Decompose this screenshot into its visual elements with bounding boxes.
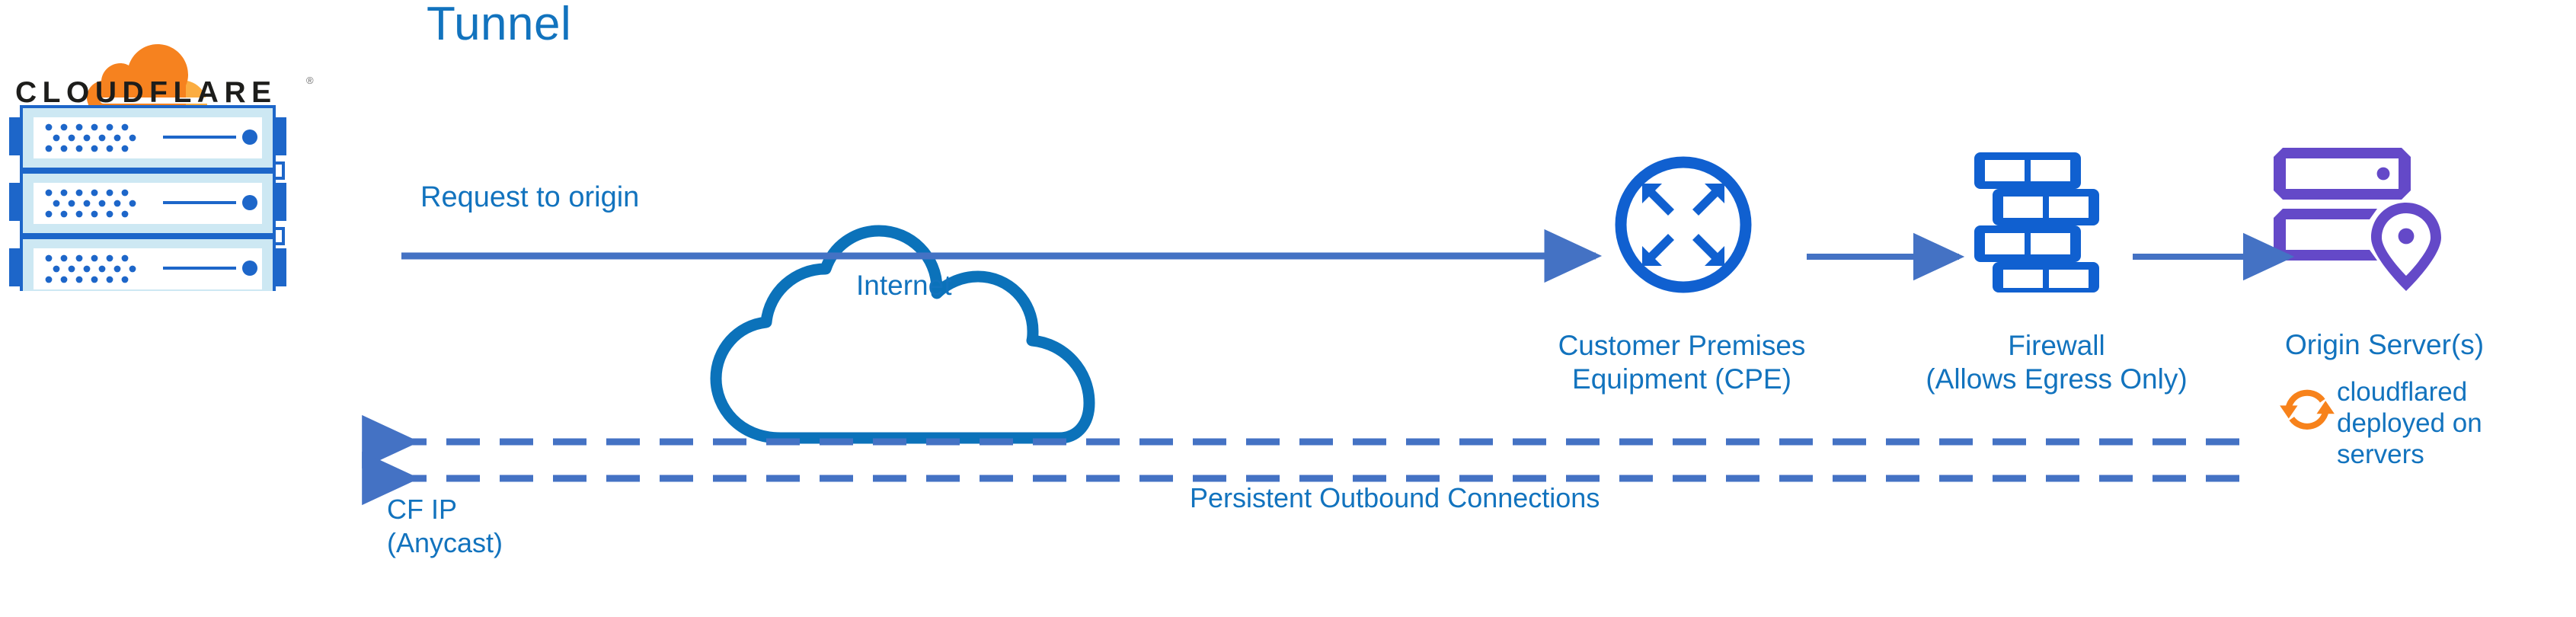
- network-switch-stack: [2, 101, 344, 291]
- switch-unit-2: [9, 172, 286, 244]
- cloudflared-annotation: cloudflareddeployed onservers: [2337, 376, 2482, 470]
- internet-cloud-icon: [693, 217, 1181, 468]
- cf-ip-line1: CF IP: [387, 494, 457, 525]
- firewall-label-line2: (Allows Egress Only): [1926, 363, 2187, 395]
- switch-unit-1: [9, 107, 286, 178]
- cpe-label-line2: Equipment (CPE): [1572, 363, 1791, 395]
- internet-label: Internet: [856, 270, 951, 302]
- diagram-canvas: Tunnel CLOUDFLARE ®: [0, 0, 2576, 617]
- origin-server-icon: [2274, 142, 2464, 302]
- cloudflared-line2: deployed on: [2337, 408, 2482, 438]
- firewall-label: Firewall(Allows Egress Only): [1889, 329, 2224, 396]
- page-title: Tunnel: [427, 0, 571, 51]
- registered-trademark-mark: ®: [306, 75, 314, 86]
- switch-unit-3: [9, 238, 286, 291]
- cloudflared-line1: cloudflared: [2337, 377, 2467, 407]
- cpe-label: Customer PremisesEquipment (CPE): [1514, 329, 1849, 396]
- cloudflared-line3: servers: [2337, 440, 2424, 469]
- persistent-outbound-label: Persistent Outbound Connections: [1190, 482, 1600, 514]
- origin-server-label: Origin Server(s): [2285, 329, 2484, 361]
- request-to-origin-label: Request to origin: [420, 181, 639, 213]
- cf-ip-line2: (Anycast): [387, 527, 503, 558]
- cf-ip-anycast-label: CF IP(Anycast): [387, 493, 503, 560]
- firewall-icon: [1971, 143, 2131, 296]
- cpe-icon: [1607, 149, 1759, 301]
- firewall-label-line1: Firewall: [2008, 330, 2105, 361]
- cpe-label-line1: Customer Premises: [1558, 330, 1806, 361]
- cloudflared-sync-icon: [2277, 379, 2337, 439]
